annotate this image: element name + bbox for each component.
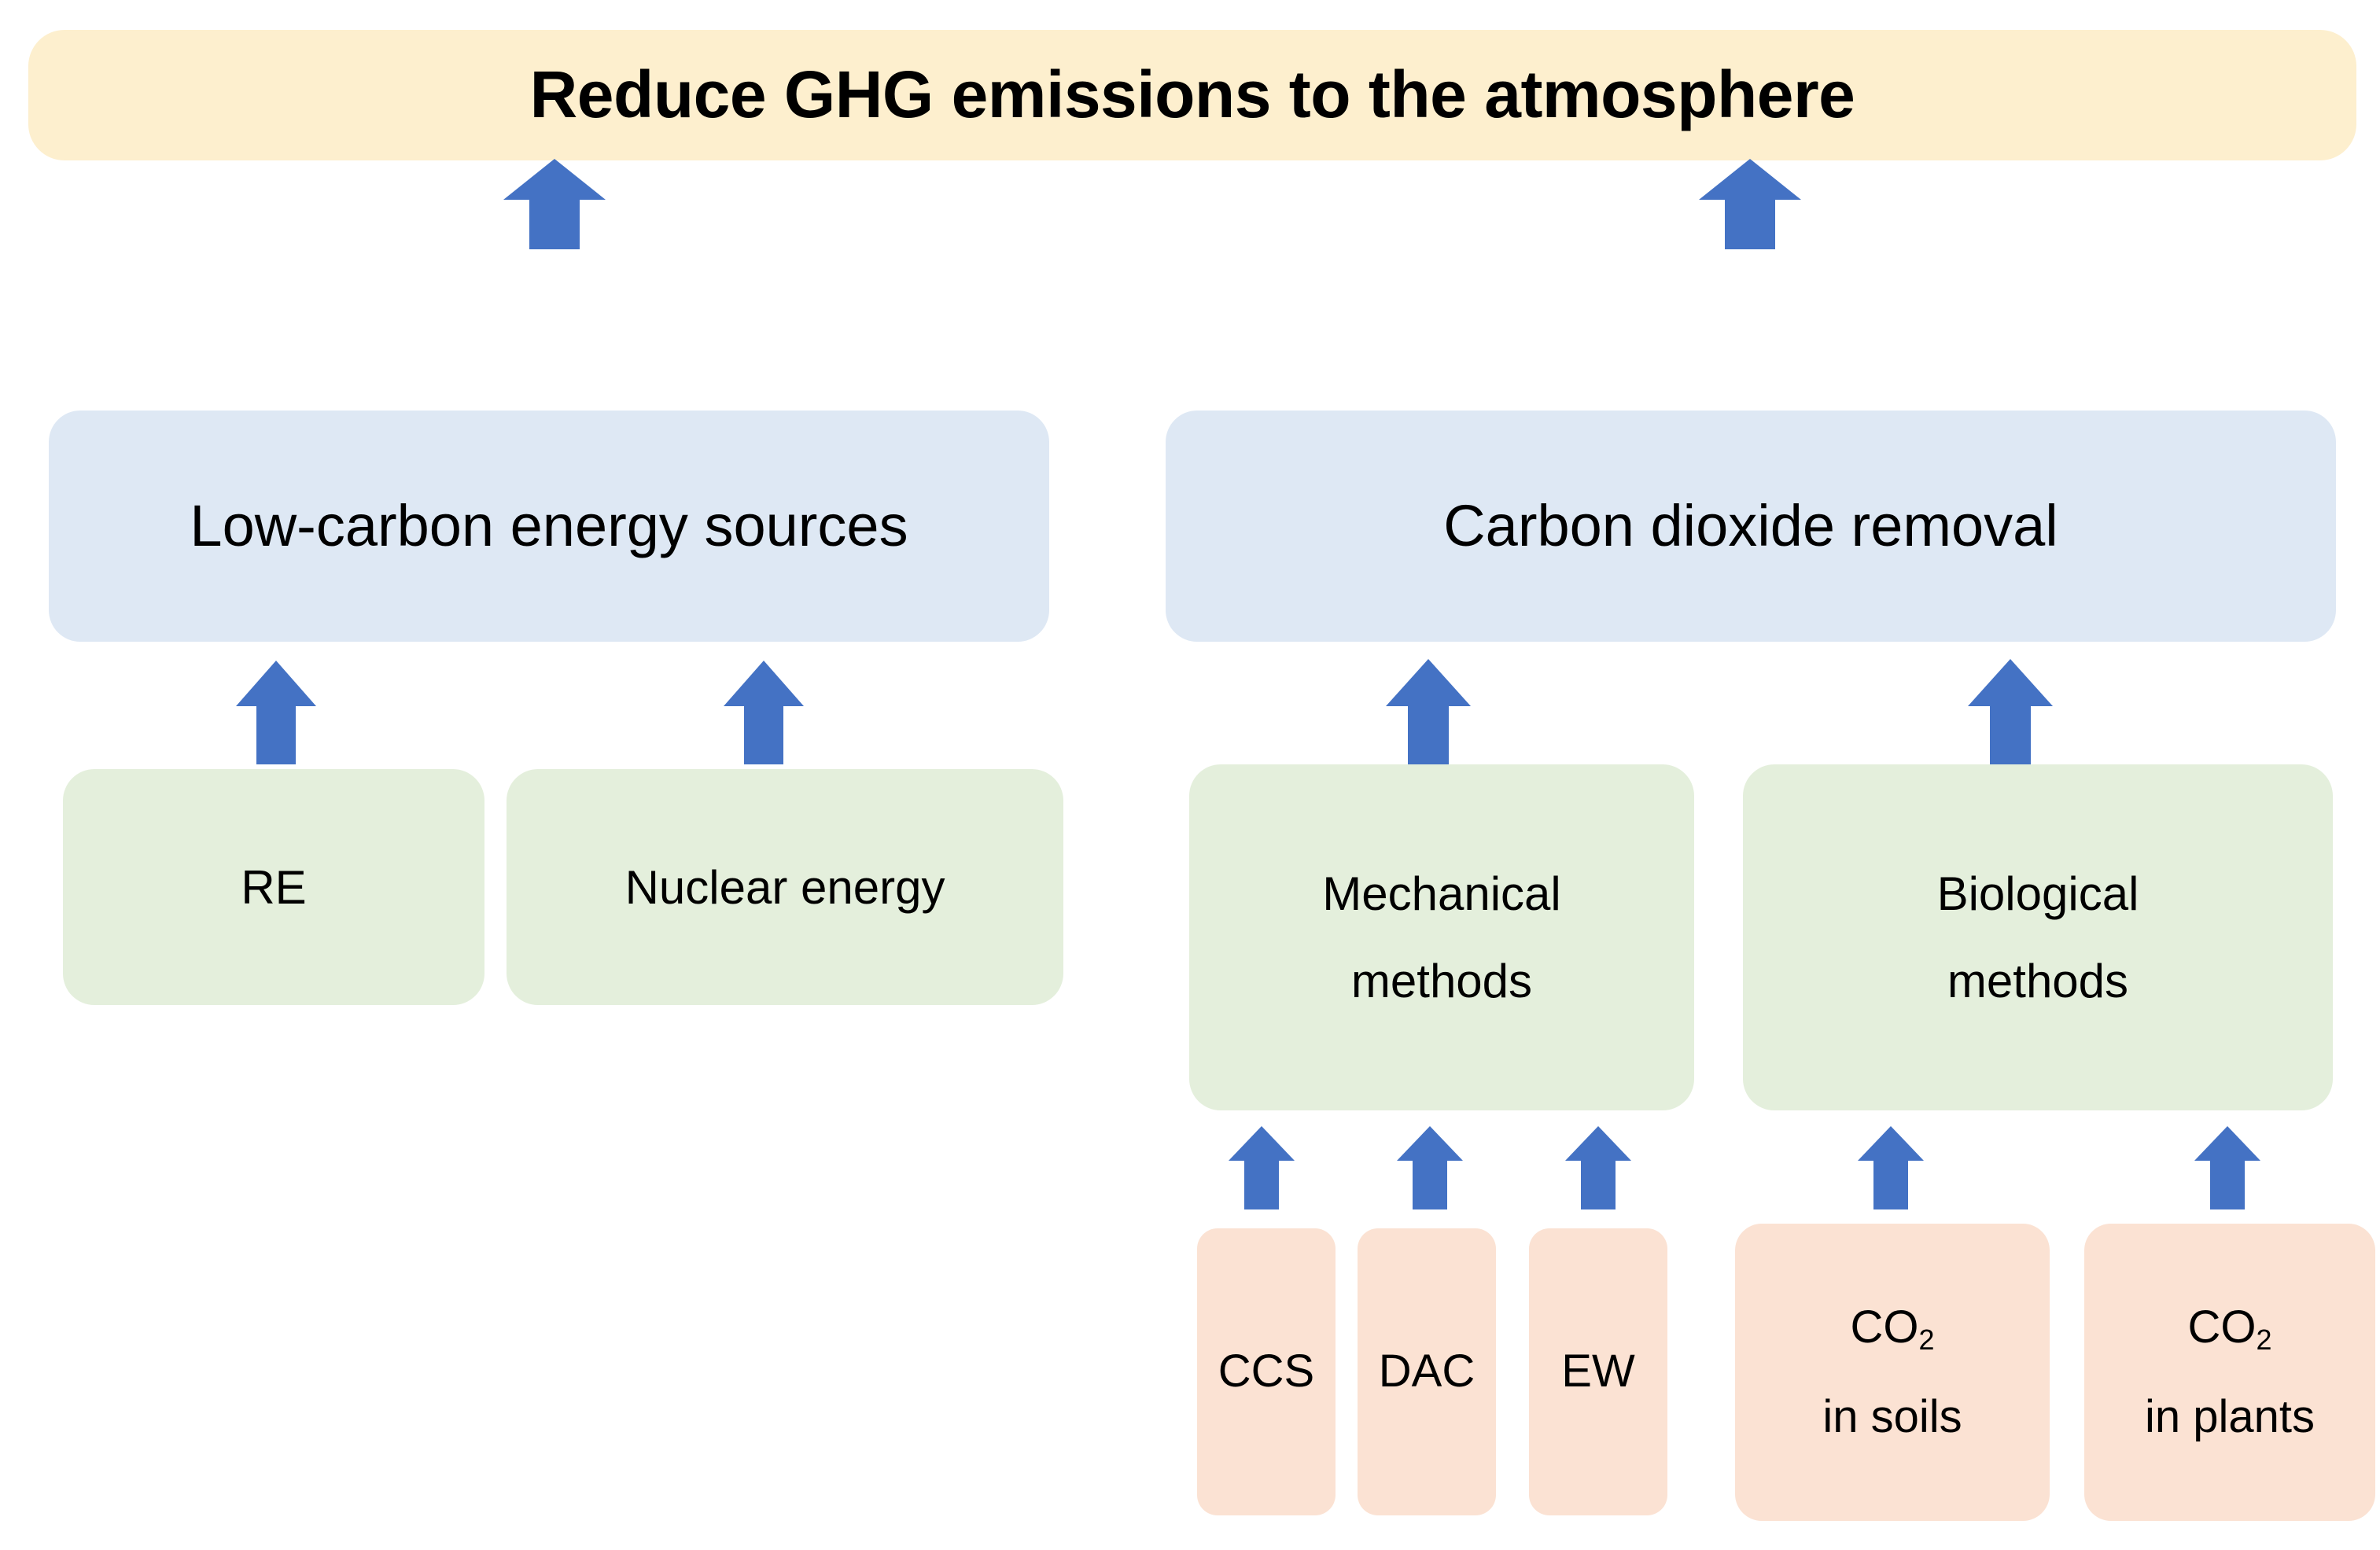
arrow-up-icon-co2-soils-to-biological xyxy=(1858,1126,1924,1209)
technology-label-co2-soils-line2: in soils xyxy=(1822,1384,1962,1450)
method-label-nuclear-line1: Nuclear energy xyxy=(625,853,945,922)
method-label-biological-line1: Biological xyxy=(1937,860,2139,928)
strategy-label-low-carbon: Low-carbon energy sources xyxy=(190,484,908,568)
method-label-re-line1: RE xyxy=(241,853,306,922)
strategy-label-cdr: Carbon dioxide removal xyxy=(1443,484,2058,568)
strategy-box-carbon-dioxide-removal: Carbon dioxide removal xyxy=(1166,411,2336,642)
goal-box-reduce-ghg-emissions: Reduce GHG emissions to the atmosphere xyxy=(28,30,2356,160)
ghg-mitigation-hierarchy-diagram: Reduce GHG emissions to the atmosphere L… xyxy=(0,0,2380,1550)
technology-label-dac: DAC xyxy=(1379,1338,1475,1405)
arrow-up-icon-dac-to-mechanical xyxy=(1397,1126,1463,1209)
technology-box-dac: DAC xyxy=(1358,1228,1496,1515)
technology-box-ccs: CCS xyxy=(1197,1228,1336,1515)
arrow-up-icon-nuclear-to-low-carbon xyxy=(724,661,804,764)
method-label-biological-line2: methods xyxy=(1947,947,2128,1015)
method-label-mechanical-line2: methods xyxy=(1351,947,1532,1015)
arrow-up-icon-low-carbon-to-goal xyxy=(503,159,606,249)
arrow-up-icon-cdr-to-goal xyxy=(1699,159,1801,249)
arrow-up-icon-re-to-low-carbon xyxy=(236,661,316,764)
method-box-biological-methods: Biological methods xyxy=(1743,764,2333,1110)
method-label-mechanical-line1: Mechanical xyxy=(1322,860,1561,928)
technology-box-co2-in-plants: CO2 in plants xyxy=(2084,1224,2375,1521)
method-box-nuclear-energy: Nuclear energy xyxy=(507,769,1063,1005)
arrow-up-icon-co2-plants-to-biological xyxy=(2194,1126,2260,1209)
goal-label: Reduce GHG emissions to the atmosphere xyxy=(530,47,1855,143)
arrow-up-icon-ew-to-mechanical xyxy=(1565,1126,1631,1209)
technology-label-ew: EW xyxy=(1561,1338,1634,1405)
technology-label-ccs: CCS xyxy=(1218,1338,1314,1405)
technology-label-co2-plants-formula: CO2 xyxy=(2188,1294,2272,1360)
technology-label-co2-soils-formula: CO2 xyxy=(1851,1294,1935,1360)
technology-box-co2-in-soils: CO2 in soils xyxy=(1735,1224,2050,1521)
strategy-box-low-carbon-energy-sources: Low-carbon energy sources xyxy=(49,411,1049,642)
method-box-re: RE xyxy=(63,769,484,1005)
method-box-mechanical-methods: Mechanical methods xyxy=(1189,764,1694,1110)
technology-box-ew: EW xyxy=(1529,1228,1667,1515)
arrow-up-icon-mechanical-to-cdr xyxy=(1386,659,1471,766)
arrow-up-icon-ccs-to-mechanical xyxy=(1229,1126,1295,1209)
technology-label-co2-plants-line2: in plants xyxy=(2145,1384,2315,1450)
arrow-up-icon-biological-to-cdr xyxy=(1968,659,2053,766)
